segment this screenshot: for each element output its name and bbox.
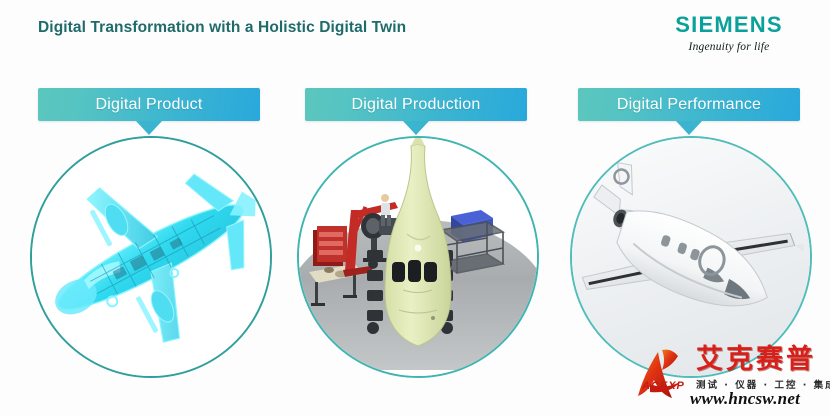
aircraft-fuselage — [385, 138, 451, 346]
assembly-line-icon — [299, 138, 537, 376]
pillar-label-1: Digital Product — [95, 96, 202, 114]
pointer-triangle-icon-2 — [403, 121, 429, 135]
pillar-label-3: Digital Performance — [617, 96, 761, 114]
scene-digital-production — [299, 138, 537, 376]
scene-digital-product — [32, 138, 270, 376]
pillar-columns: Digital Product — [0, 0, 830, 416]
pillar-image-circle-1 — [30, 136, 272, 378]
pillar-digital-production[interactable]: Digital Production — [305, 88, 527, 121]
xray-aircraft-icon — [32, 138, 270, 376]
pillar-image-circle-2 — [297, 136, 539, 378]
slide-canvas: Digital Transformation with a Holistic D… — [0, 0, 830, 416]
pointer-triangle-icon-3 — [676, 121, 702, 135]
business-jet-icon — [572, 138, 810, 376]
scene-digital-performance — [572, 138, 810, 376]
tool-cabinet — [313, 226, 347, 266]
pillar-label-2: Digital Production — [352, 96, 481, 114]
pillar-header-bar-1[interactable]: Digital Product — [38, 88, 260, 121]
pillar-header-bar-2[interactable]: Digital Production — [305, 88, 527, 121]
pillar-digital-product[interactable]: Digital Product — [38, 88, 260, 121]
pillar-header-bar-3[interactable]: Digital Performance — [578, 88, 800, 121]
pointer-triangle-icon-1 — [136, 121, 162, 135]
pillar-image-circle-3 — [570, 136, 812, 378]
pillar-digital-performance[interactable]: Digital Performance — [578, 88, 800, 121]
